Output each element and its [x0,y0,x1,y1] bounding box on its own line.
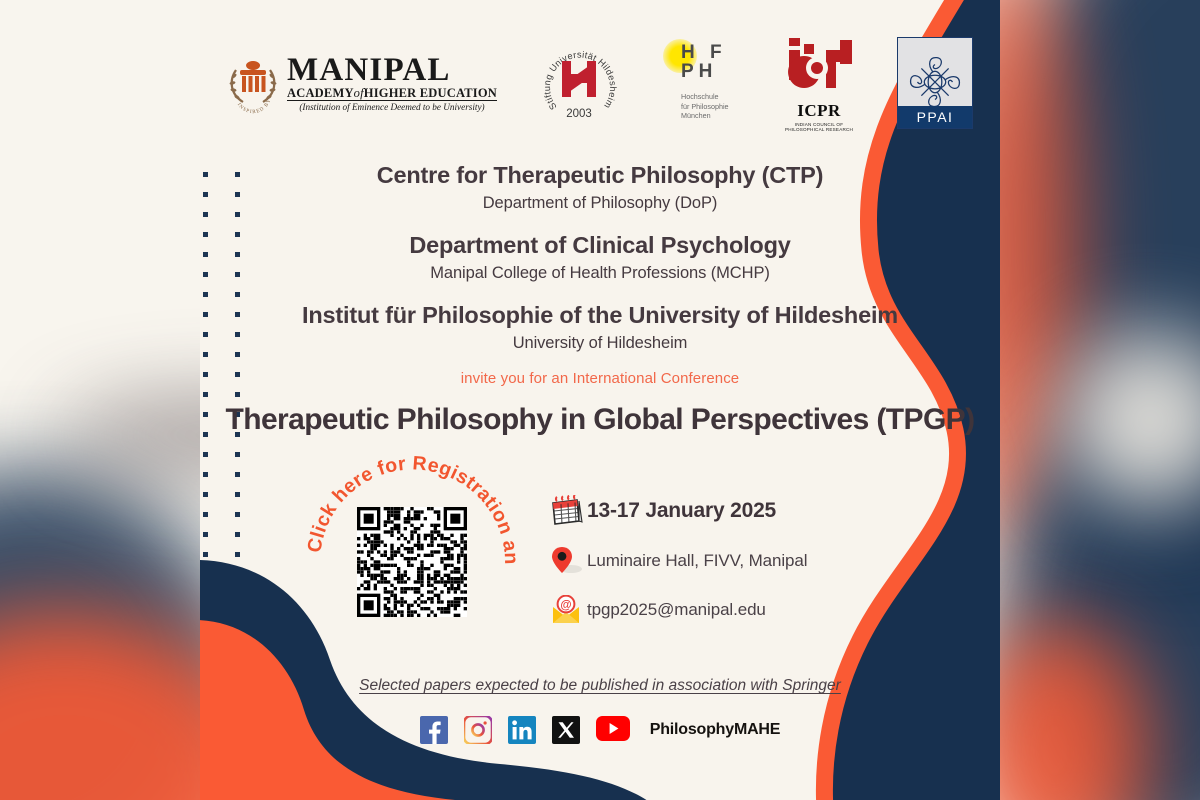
qr-code[interactable] [357,507,467,617]
manipal-tagline-of: of [354,86,364,100]
event-venue: Luminaire Hall, FIVV, Manipal [587,551,807,571]
facebook-icon[interactable] [420,716,448,744]
svg-text:@: @ [560,599,571,611]
ppai-abbr: PPAI [898,106,972,128]
instagram-icon[interactable] [464,716,492,744]
manipal-subtagline: (Institution of Eminence Deemed to be Un… [287,103,497,112]
conference-title: Therapeutic Philosophy in Global Perspec… [200,403,1000,437]
hfph-logo: H F PH Hochschule für Philosophie Münche… [661,37,741,129]
x-twitter-icon[interactable] [552,716,580,744]
hfph-initials: H F PH [681,43,727,81]
event-details: 13-17 January 2025 Luminaire Hall, FIVV,… [545,495,975,643]
event-date: 13-17 January 2025 [587,499,776,523]
hfph-subtitle: Hochschule für Philosophie München [681,92,729,121]
hfph-sub3: München [681,111,729,121]
hfph-initials-line2: PH [681,62,727,81]
linkedin-icon[interactable] [508,716,536,744]
manipal-tagline-academy: ACADEMY [287,86,354,100]
manipal-wordmark: MANIPAL [287,54,497,87]
hildesheim-logo: Stiftung Universität Hildesheim 2003 [533,37,625,129]
hfph-initials-line1: H F [681,43,727,62]
conference-poster: INSPIRED BY LIFE MANIPAL ACADEMYofHIGHER… [200,0,1000,800]
icpr-logo: ICPR INDIAN COUNCIL OF PHILOSOPHICAL RES… [777,35,861,131]
social-links: PhilosophyMAHE [200,716,1000,744]
partner-logos-strip: INSPIRED BY LIFE MANIPAL ACADEMYofHIGHER… [200,28,1000,138]
youtube-icon[interactable] [596,716,630,744]
manipal-crest-icon: INSPIRED BY LIFE [227,52,279,114]
manipal-logo: INSPIRED BY LIFE MANIPAL ACADEMYofHIGHER… [227,52,497,114]
organiser-2-main: Institut für Philosophie of the Universi… [200,300,1000,330]
manipal-tagline-higher-education: HIGHER EDUCATION [364,86,497,100]
detail-row-email: @ tpgp2025@manipal.edu [545,595,975,625]
invite-line: invite you for an International Conferen… [200,370,1000,387]
organiser-0-sub: Department of Philosophy (DoP) [200,190,1000,216]
organisers-block: Centre for Therapeutic Philosophy (CTP) … [200,160,1000,356]
ppai-logo: PPAI [897,37,973,129]
social-handle: PhilosophyMAHE [650,721,781,739]
detail-row-venue: Luminaire Hall, FIVV, Manipal [545,545,975,577]
calendar-icon [545,495,587,527]
icpr-mark-icon [777,34,861,96]
icpr-abbr: ICPR [777,101,861,121]
springer-note: Selected papers expected to be published… [200,677,1000,695]
icpr-fullname: INDIAN COUNCIL OF PHILOSOPHICAL RESEARCH [777,122,861,132]
event-email[interactable]: tpgp2025@manipal.edu [587,600,766,620]
hfph-sub1: Hochschule [681,92,729,102]
detail-row-date: 13-17 January 2025 [545,495,975,527]
hfph-sub2: für Philosophie [681,102,729,112]
email-icon: @ [545,595,587,625]
organiser-0-main: Centre for Therapeutic Philosophy (CTP) [200,160,1000,190]
manipal-tagline: ACADEMYofHIGHER EDUCATION [287,87,497,102]
springer-note-text: Selected papers expected to be published… [359,677,841,694]
organiser-1-sub: Manipal College of Health Professions (M… [200,260,1000,286]
hildesheim-year: 2003 [566,108,592,120]
qr-registration-badge[interactable]: Click here for Registration and Fee Paym… [305,455,520,670]
organiser-1-main: Department of Clinical Psychology [200,230,1000,260]
organiser-2-sub: University of Hildesheim [200,330,1000,356]
location-pin-icon [545,545,587,577]
